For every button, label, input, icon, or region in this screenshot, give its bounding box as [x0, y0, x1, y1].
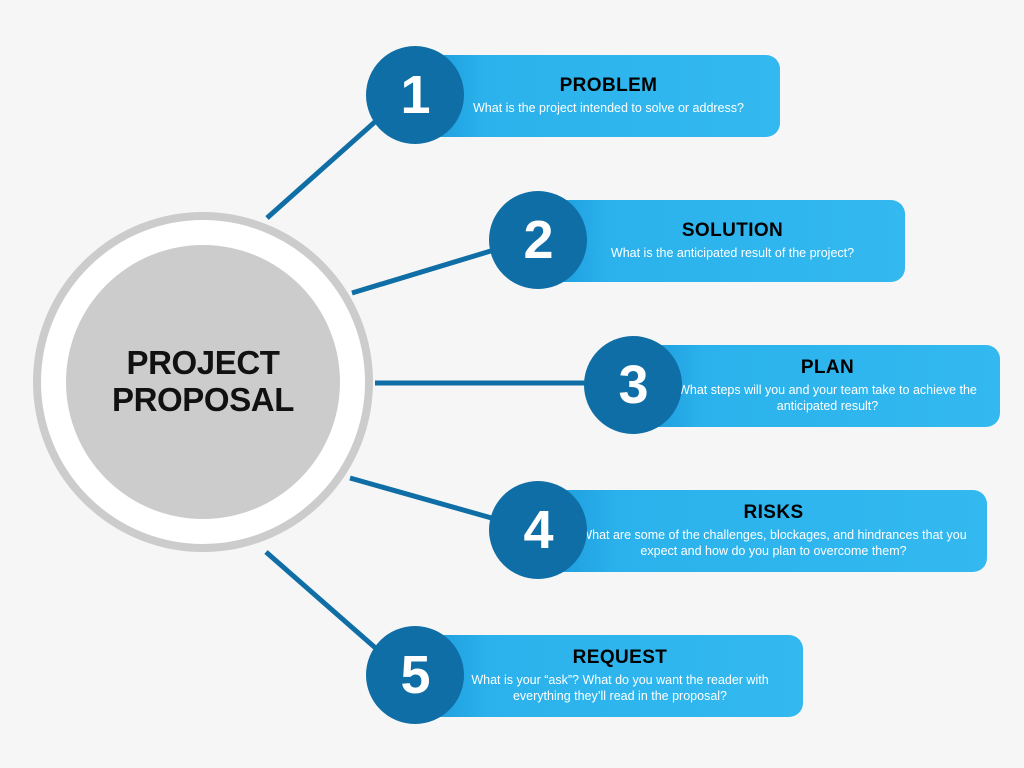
- step-bar-risks[interactable]: RISKSWhat are some of the challenges, bl…: [560, 490, 987, 572]
- step-description-risks: What are some of the challenges, blockag…: [560, 527, 987, 559]
- step-description-problem: What is the project intended to solve or…: [459, 100, 758, 116]
- infographic-canvas: PROJECT PROPOSAL PROBLEMWhat is the proj…: [0, 0, 1024, 768]
- step-number-1: 1: [400, 68, 429, 122]
- step-title-request: REQUEST: [573, 648, 668, 669]
- step-title-plan: PLAN: [801, 358, 854, 379]
- step-number-circle-4[interactable]: 4: [489, 481, 587, 579]
- step-number-3: 3: [618, 358, 647, 412]
- step-bar-plan[interactable]: PLANWhat steps will you and your team ta…: [655, 345, 1000, 427]
- step-title-problem: PROBLEM: [560, 76, 658, 97]
- step-number-5: 5: [400, 648, 429, 702]
- step-number-circle-3[interactable]: 3: [584, 336, 682, 434]
- hub-center-circle: PROJECT PROPOSAL: [66, 245, 340, 519]
- step-number-circle-5[interactable]: 5: [366, 626, 464, 724]
- step-bar-request[interactable]: REQUESTWhat is your “ask”? What do you w…: [437, 635, 803, 717]
- step-description-solution: What is the anticipated result of the pr…: [597, 245, 868, 261]
- step-title-solution: SOLUTION: [682, 221, 783, 242]
- step-title-risks: RISKS: [743, 503, 803, 524]
- step-description-request: What is your “ask”? What do you want the…: [437, 672, 803, 704]
- step-number-4: 4: [523, 503, 552, 557]
- step-description-plan: What steps will you and your team take t…: [655, 382, 1000, 414]
- step-bar-solution[interactable]: SOLUTIONWhat is the anticipated result o…: [560, 200, 905, 282]
- step-bar-problem[interactable]: PROBLEMWhat is the project intended to s…: [437, 55, 780, 137]
- step-number-circle-1[interactable]: 1: [366, 46, 464, 144]
- hub-title: PROJECT PROPOSAL: [112, 345, 294, 419]
- step-number-circle-2[interactable]: 2: [489, 191, 587, 289]
- step-number-2: 2: [523, 213, 552, 267]
